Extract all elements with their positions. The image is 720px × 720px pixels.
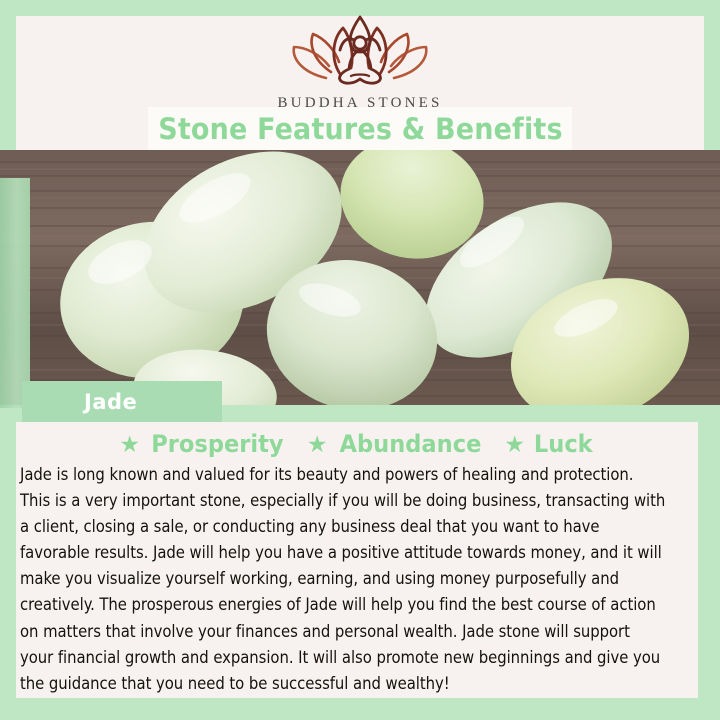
frame-accent-photo-left xyxy=(0,178,30,408)
keyword-list: ★ Prosperity ★ Abundance ★ Luck xyxy=(16,430,698,458)
star-icon: ★ xyxy=(119,433,140,456)
keyword-item: ★ Abundance xyxy=(307,430,486,458)
keyword-label: Luck xyxy=(534,430,593,458)
star-icon: ★ xyxy=(307,433,328,456)
keyword-label: Prosperity xyxy=(151,430,283,458)
keyword-label: Abundance xyxy=(339,430,481,458)
star-icon: ★ xyxy=(504,433,525,456)
title-banner: Stone Features & Benefits xyxy=(148,107,572,151)
lotus-meditation-icon xyxy=(285,14,435,86)
infographic-card: BUDDHA STONES Stone Features & Benefits xyxy=(0,0,720,720)
brand-header: BUDDHA STONES xyxy=(0,14,720,112)
stone-photo xyxy=(0,150,720,405)
frame-accent-bottom xyxy=(0,698,720,720)
page-title: Stone Features & Benefits xyxy=(158,112,563,146)
stone-name: Jade xyxy=(84,390,137,414)
keyword-item: ★ Prosperity xyxy=(119,430,287,458)
description-text: Jade is long known and valued for its be… xyxy=(20,462,667,697)
stone-label-bar: Jade xyxy=(22,381,222,422)
keyword-item: ★ Luck xyxy=(504,430,594,458)
